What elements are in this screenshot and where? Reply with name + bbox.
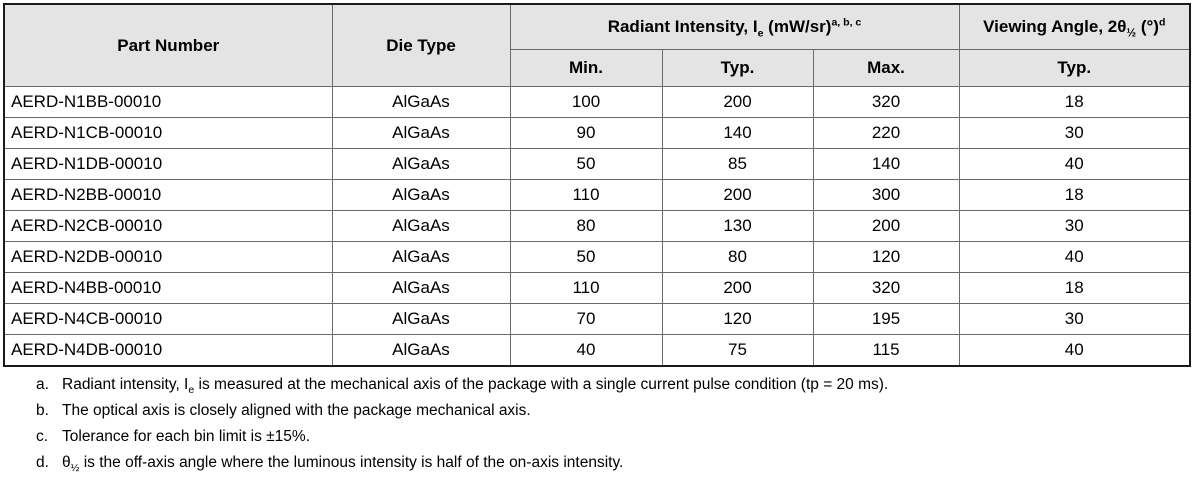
column-header-ie-min: Min. [510,50,662,87]
cell-part-number: AERD-N1CB-00010 [4,118,332,149]
viewing-angle-footnote-ref: d [1159,16,1165,28]
radiant-intensity-footnote-refs: a, b, c [831,16,861,28]
footnote-marker: c. [36,424,62,450]
column-header-radiant-intensity: Radiant Intensity, Ie (mW/sr)a, b, c [510,4,959,50]
cell-die-type: AlGaAs [332,149,510,180]
cell-ie-min: 70 [510,304,662,335]
footnotes-list: a.Radiant intensity, Ie is measured at t… [36,372,1186,476]
cell-ie-min: 50 [510,149,662,180]
cell-ie-min: 110 [510,180,662,211]
cell-ie-min: 40 [510,335,662,367]
table-row: AERD-N2DB-00010AlGaAs508012040 [4,242,1190,273]
cell-ie-max: 195 [813,304,959,335]
column-header-part-number: Part Number [4,4,332,87]
footnote-text: θ½ is the off-axis angle where the lumin… [62,450,1186,476]
table-row: AERD-N2CB-00010AlGaAs8013020030 [4,211,1190,242]
viewing-angle-label-prefix: Viewing Angle, 2 [983,17,1117,36]
cell-die-type: AlGaAs [332,87,510,118]
cell-die-type: AlGaAs [332,118,510,149]
table-header: Part Number Die Type Radiant Intensity, … [4,4,1190,87]
cell-ie-min: 50 [510,242,662,273]
footnote-marker: b. [36,398,62,424]
footnote-text: The optical axis is closely aligned with… [62,398,1186,424]
cell-ie-typ: 200 [662,180,813,211]
cell-ie-typ: 200 [662,87,813,118]
cell-ie-min: 110 [510,273,662,304]
table-body: AERD-N1BB-00010AlGaAs10020032018AERD-N1C… [4,87,1190,367]
footnote-marker: d. [36,450,62,476]
cell-ie-max: 320 [813,87,959,118]
footnote-text-prefix: θ [62,454,71,471]
cell-die-type: AlGaAs [332,335,510,367]
footnote-marker: a. [36,372,62,398]
cell-ie-min: 90 [510,118,662,149]
footnote-text-prefix: Radiant intensity, I [62,376,188,393]
cell-ie-max: 200 [813,211,959,242]
cell-ie-max: 320 [813,273,959,304]
footnote-text: Tolerance for each bin limit is ±15%. [62,424,1186,450]
footnote-item: c.Tolerance for each bin limit is ±15%. [36,424,1186,450]
column-header-ie-max: Max. [813,50,959,87]
radiant-intensity-unit: (mW/sr) [763,17,831,36]
footnote-item: d.θ½ is the off-axis angle where the lum… [36,450,1186,476]
table-row: AERD-N1CB-00010AlGaAs9014022030 [4,118,1190,149]
cell-ie-max: 115 [813,335,959,367]
cell-die-type: AlGaAs [332,304,510,335]
footnote-text-suffix: is measured at the mechanical axis of th… [194,376,888,393]
cell-angle-typ: 40 [959,242,1190,273]
cell-angle-typ: 18 [959,87,1190,118]
cell-die-type: AlGaAs [332,273,510,304]
cell-part-number: AERD-N4BB-00010 [4,273,332,304]
cell-angle-typ: 40 [959,149,1190,180]
spec-sheet-page: Part Number Die Type Radiant Intensity, … [0,0,1200,482]
cell-part-number: AERD-N2CB-00010 [4,211,332,242]
table-row: AERD-N2BB-00010AlGaAs11020030018 [4,180,1190,211]
cell-angle-typ: 30 [959,211,1190,242]
cell-ie-typ: 140 [662,118,813,149]
cell-part-number: AERD-N1DB-00010 [4,149,332,180]
table-row: AERD-N4DB-00010AlGaAs407511540 [4,335,1190,367]
cell-ie-typ: 80 [662,242,813,273]
cell-angle-typ: 18 [959,180,1190,211]
column-header-die-type: Die Type [332,4,510,87]
cell-angle-typ: 30 [959,304,1190,335]
cell-ie-typ: 75 [662,335,813,367]
table-row: AERD-N1BB-00010AlGaAs10020032018 [4,87,1190,118]
cell-angle-typ: 40 [959,335,1190,367]
footnote-text: Radiant intensity, Ie is measured at the… [62,372,1186,398]
cell-ie-typ: 120 [662,304,813,335]
cell-angle-typ: 30 [959,118,1190,149]
column-header-viewing-angle: Viewing Angle, 2θ½ (°)d [959,4,1190,50]
radiant-intensity-spec-table: Part Number Die Type Radiant Intensity, … [3,3,1191,367]
header-row-groups: Part Number Die Type Radiant Intensity, … [4,4,1190,50]
cell-ie-max: 220 [813,118,959,149]
theta-half-subscript: ½ [1126,27,1136,39]
cell-ie-typ: 200 [662,273,813,304]
cell-die-type: AlGaAs [332,180,510,211]
cell-part-number: AERD-N4DB-00010 [4,335,332,367]
table-row: AERD-N4BB-00010AlGaAs11020032018 [4,273,1190,304]
footnote-text-suffix: is the off-axis angle where the luminous… [79,454,623,471]
table-row: AERD-N4CB-00010AlGaAs7012019530 [4,304,1190,335]
cell-part-number: AERD-N2BB-00010 [4,180,332,211]
cell-ie-min: 80 [510,211,662,242]
viewing-angle-unit: (°) [1136,17,1159,36]
cell-part-number: AERD-N4CB-00010 [4,304,332,335]
cell-angle-typ: 18 [959,273,1190,304]
cell-ie-max: 300 [813,180,959,211]
cell-ie-typ: 130 [662,211,813,242]
cell-part-number: AERD-N2DB-00010 [4,242,332,273]
table-row: AERD-N1DB-00010AlGaAs508514040 [4,149,1190,180]
cell-die-type: AlGaAs [332,211,510,242]
radiant-intensity-label-prefix: Radiant Intensity, I [608,17,758,36]
footnote-item: a.Radiant intensity, Ie is measured at t… [36,372,1186,398]
footnote-item: b.The optical axis is closely aligned wi… [36,398,1186,424]
cell-die-type: AlGaAs [332,242,510,273]
column-header-angle-typ: Typ. [959,50,1190,87]
cell-ie-max: 140 [813,149,959,180]
cell-part-number: AERD-N1BB-00010 [4,87,332,118]
cell-ie-typ: 85 [662,149,813,180]
column-header-ie-typ: Typ. [662,50,813,87]
cell-ie-max: 120 [813,242,959,273]
cell-ie-min: 100 [510,87,662,118]
